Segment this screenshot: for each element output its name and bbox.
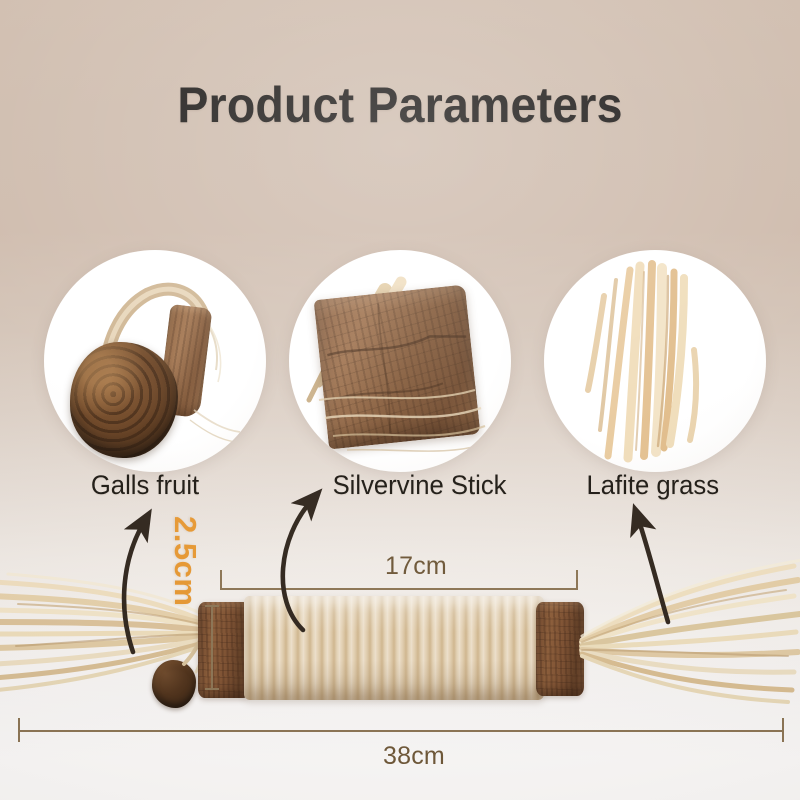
dimension-line-height (211, 606, 213, 690)
raffia-tassel-right (566, 556, 800, 706)
infographic-canvas: Product Parameters (0, 0, 800, 800)
dimension-label-body: 17cm (385, 552, 447, 581)
dimension-tick-total-left (18, 718, 20, 742)
dimension-label-total: 38cm (383, 742, 445, 771)
feature-circle-lafite-grass (544, 250, 766, 472)
feature-label-silvervine-stick: Silvervine Stick (333, 470, 507, 501)
dimension-label-height: 2.5cm (167, 516, 203, 606)
feature-label-galls-fruit: Galls fruit (91, 470, 199, 501)
dimension-tick-body-left (220, 570, 222, 590)
dimension-tick-height-top (205, 605, 219, 607)
dimension-line-total (18, 730, 784, 732)
dimension-tick-height-bottom (205, 688, 219, 690)
dimension-tick-total-right (782, 718, 784, 742)
feature-circle-silvervine-stick (289, 250, 511, 472)
galls-fruit-photo (44, 250, 266, 472)
dimension-line-body (220, 588, 578, 590)
feature-circle-galls-fruit (44, 250, 266, 472)
feature-label-lafite-grass: Lafite grass (586, 470, 719, 501)
silvervine-bark-left (198, 602, 250, 698)
page-title: Product Parameters (28, 76, 772, 134)
dimension-tick-body-right (576, 570, 578, 590)
silvervine-stick-photo (289, 250, 511, 472)
lafite-grass-photo (544, 250, 766, 472)
sisal-rope-barrel (244, 596, 544, 700)
